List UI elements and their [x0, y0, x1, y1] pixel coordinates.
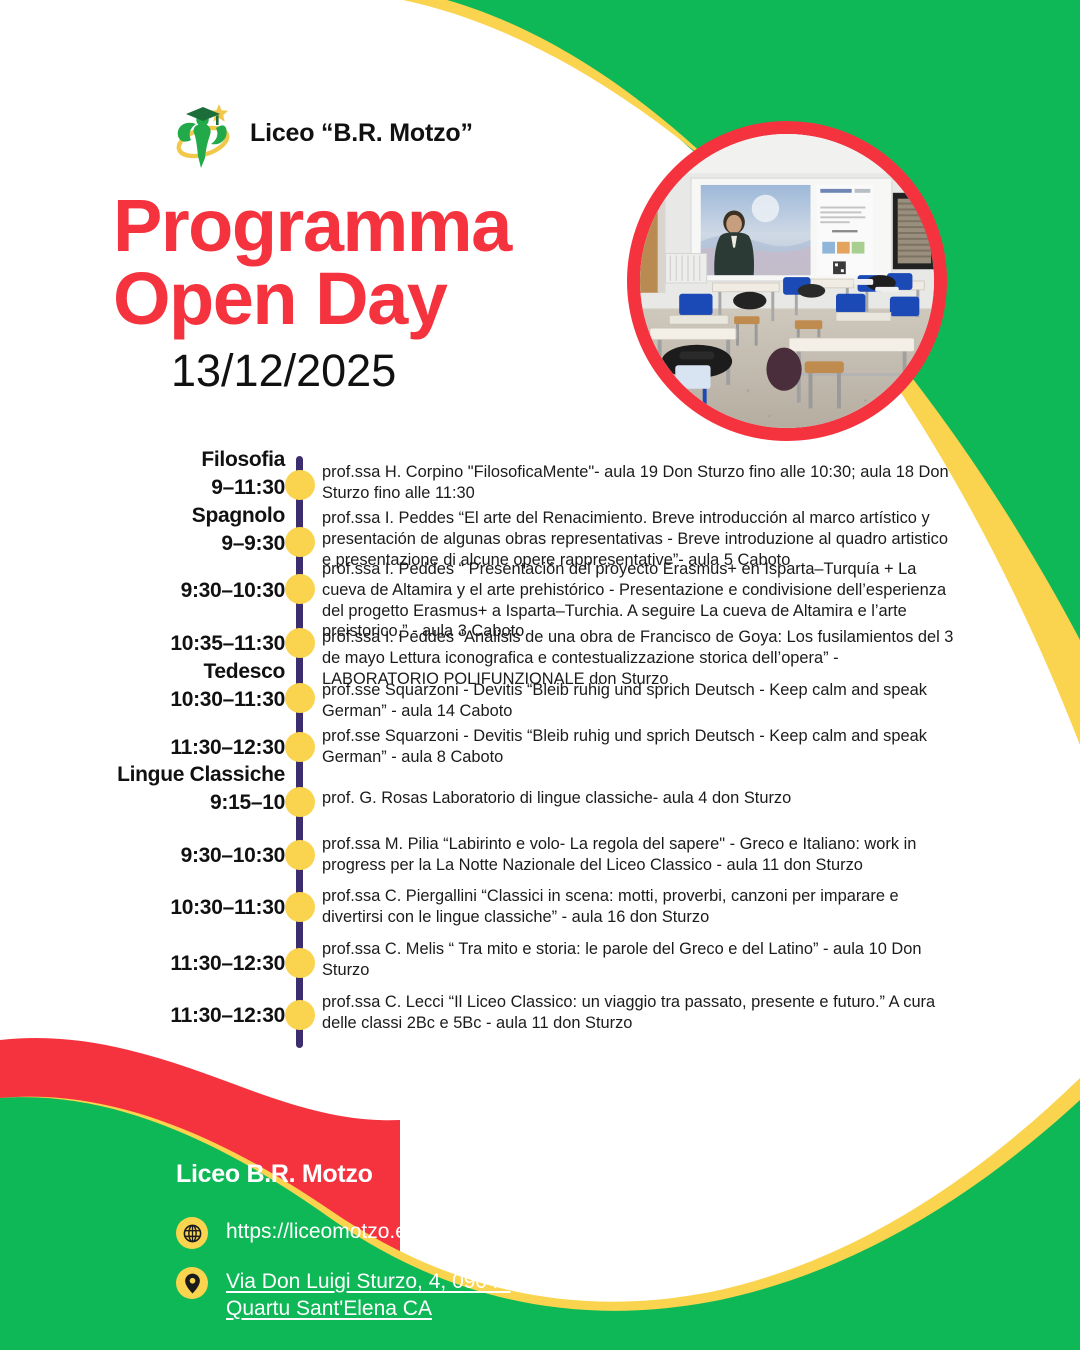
address-text[interactable]: Via Don Luigi Sturzo, 4, 09045 Quartu Sa… [226, 1267, 536, 1323]
time-label: 9:30–10:30 [100, 579, 285, 603]
section-label: Spagnolo [60, 504, 285, 528]
activity-description: prof.ssa C. Piergallini “Classici in sce… [322, 886, 958, 928]
time-label: 9–11:30 [100, 476, 285, 500]
time-label: 11:30–12:30 [100, 1004, 285, 1028]
timeline-dot [285, 527, 315, 557]
section-label: Lingue Classiche [60, 763, 285, 787]
activity-description: prof.sse Squarzoni - Devitis “Bleib ruhi… [322, 726, 958, 768]
time-label: 10:30–11:30 [100, 688, 285, 712]
footer-website-row[interactable]: https://liceomotzo.edu.it/ [176, 1217, 536, 1249]
classroom-photo [627, 121, 947, 441]
event-date: 13/12/2025 [171, 345, 511, 397]
time-label: 9:15–10 [100, 791, 285, 815]
website-url[interactable]: https://liceomotzo.edu.it/ [226, 1217, 452, 1246]
activity-description: prof.sse Squarzoni - Devitis “Bleib ruhi… [322, 680, 958, 722]
section-label: Tedesco [60, 660, 285, 684]
page-title-line2: Open Day [113, 263, 511, 336]
section-label: Filosofia [60, 448, 285, 472]
poster-canvas: Liceo “B.R. Motzo” Programma Open Day 13… [0, 0, 1080, 1350]
timeline-dot [285, 948, 315, 978]
timeline-dot [285, 470, 315, 500]
brand-name: Liceo “B.R. Motzo” [250, 119, 473, 148]
footer-contact-block: Liceo B.R. Motzo https://liceomotzo.edu.… [176, 1160, 536, 1341]
activity-description: prof.ssa H. Corpino "FilosoficaMente"- a… [322, 462, 958, 504]
timeline-dot [285, 787, 315, 817]
globe-icon [176, 1217, 208, 1249]
title-block: Programma Open Day 13/12/2025 [113, 190, 511, 397]
activity-description: prof.ssa M. Pilia “Labirinto e volo- La … [322, 834, 958, 876]
footer-school-name: Liceo B.R. Motzo [176, 1160, 536, 1189]
footer-address-row[interactable]: Via Don Luigi Sturzo, 4, 09045 Quartu Sa… [176, 1267, 536, 1323]
timeline-dot [285, 1000, 315, 1030]
time-label: 9–9:30 [100, 532, 285, 556]
timeline-dot [285, 840, 315, 870]
time-label: 11:30–12:30 [100, 736, 285, 760]
timeline-dot [285, 732, 315, 762]
page-title-line1: Programma [113, 190, 511, 263]
time-label: 9:30–10:30 [100, 844, 285, 868]
location-pin-icon [176, 1267, 208, 1299]
activity-description: prof.ssa C. Melis “ Tra mito e storia: l… [322, 939, 958, 981]
brand-row: Liceo “B.R. Motzo” [172, 98, 473, 168]
graduate-figure-logo [172, 98, 234, 168]
timeline-dot [285, 892, 315, 922]
activity-description: prof. G. Rosas Laboratorio di lingue cla… [322, 788, 958, 809]
time-label: 11:30–12:30 [100, 952, 285, 976]
activity-description: prof.ssa C. Lecci “Il Liceo Classico: un… [322, 992, 958, 1034]
timeline-dot [285, 683, 315, 713]
timeline-dot [285, 574, 315, 604]
time-label: 10:30–11:30 [100, 896, 285, 920]
timeline-dot [285, 628, 315, 658]
time-label: 10:35–11:30 [100, 632, 285, 656]
